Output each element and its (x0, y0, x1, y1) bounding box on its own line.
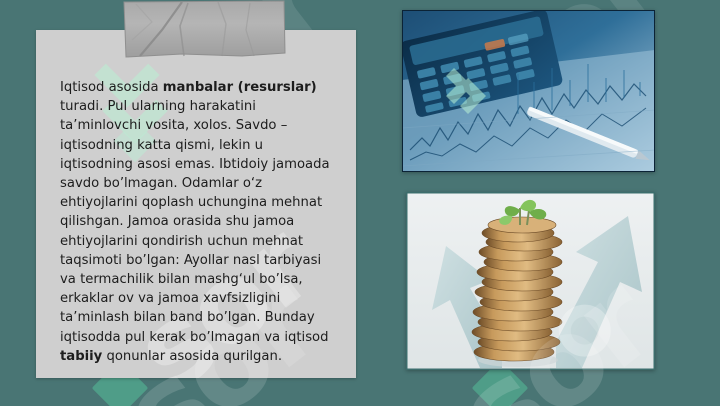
crumpled-paper-strip (122, 0, 286, 58)
paragraph-run-3: tabiiy (60, 349, 102, 364)
text-content-card: sor Iqtisod asosida manbalar (resurslar)… (36, 30, 356, 378)
coin-stack-growth-photo (406, 192, 655, 370)
calculator-financial-charts-photo (402, 10, 655, 172)
paragraph-run-1: manbalar (resurslar) (163, 80, 317, 95)
paragraph-run-2: turadi. Pul ularning harakatini ta’minlo… (60, 99, 330, 344)
body-paragraph: Iqtisod asosida manbalar (resurslar) tur… (36, 30, 356, 366)
paragraph-run-4: qonunlar asosida qurilgan. (102, 349, 282, 364)
slide-canvas: sor sor sor Iqtisod asosida manbalar (re… (0, 0, 720, 406)
paragraph-run-0: Iqtisod asosida (60, 80, 163, 95)
